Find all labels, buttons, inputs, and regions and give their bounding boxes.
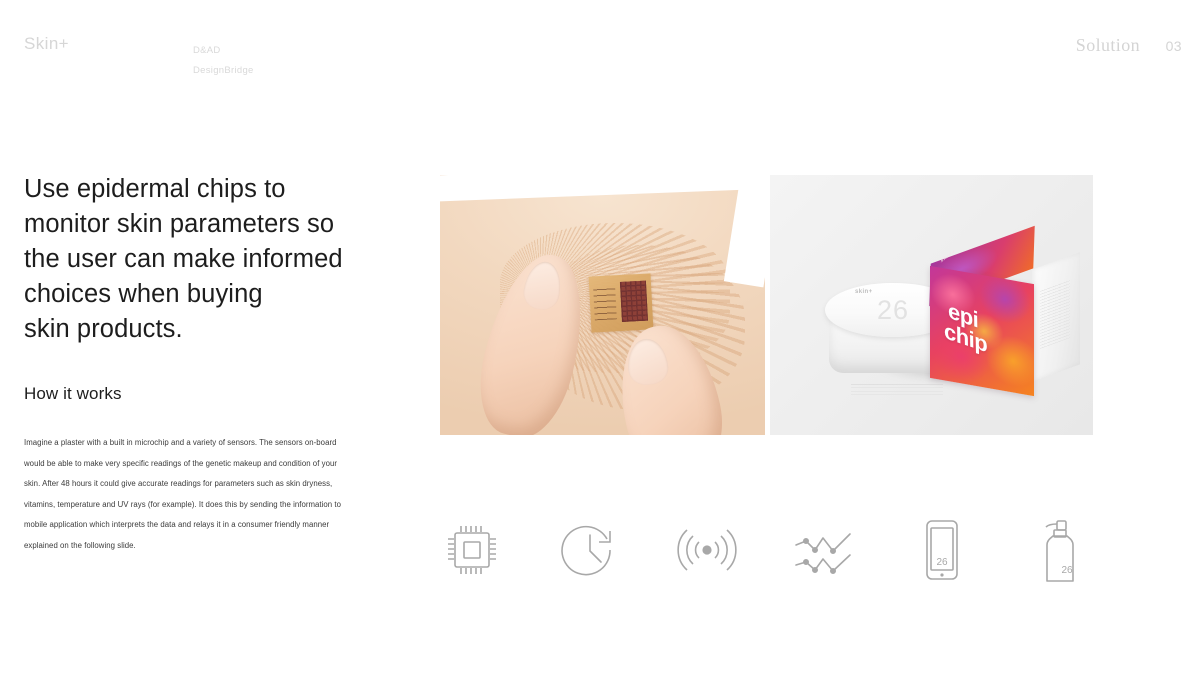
headline-line-1: Use epidermal chips to [24,172,364,207]
epi-chip-box: skin+ epi chip [930,261,1080,391]
headline-line-5: skin products. [24,312,364,347]
slide-header: Skin+ D&AD DesignBridge Solution 03 [0,0,1200,90]
brand-logo: Skin+ [24,34,69,54]
pump-bottle-icon: 26 [1020,512,1100,588]
feature-icon-row: 26 26 [432,512,1100,588]
section-number: 03 [1166,38,1182,54]
clock-history-icon [550,512,630,588]
page-title: Use epidermal chips to monitor skin para… [24,172,364,347]
smartphone-value: 26 [937,557,949,568]
line-chart-icon [785,512,865,588]
headline-line-4: choices when buying [24,277,364,312]
pump-bottle-value: 26 [1061,565,1073,576]
body-paragraph: Imagine a plaster with a built in microc… [24,433,346,557]
box-side-text [1040,280,1070,349]
epidermal-chip-on-skin-photo [440,175,765,435]
fingernail [521,259,565,313]
fingernail [625,337,670,387]
box-side-panel [1032,252,1080,381]
box-word-chip: chip [944,321,988,356]
headline-line-2: monitor skin parameters so [24,207,364,242]
credit-line-1: D&AD [193,41,254,61]
slide: Skin+ D&AD DesignBridge Solution 03 Use … [0,0,1200,675]
wireless-signal-icon [667,512,747,588]
credit-line-2: DesignBridge [193,61,254,81]
epi-chip-packaging-photo: skin+ 26 skin+ epi chip [770,175,1093,435]
microchip-icon [432,512,512,588]
section-subheading: How it works [24,384,364,404]
text-column: Use epidermal chips to monitor skin para… [24,172,364,557]
epidermal-chip-patch [589,273,654,332]
chip-sensor-grid [620,281,648,322]
headline-line-3: the user can make informed [24,242,364,277]
box-front-panel: epi chip [930,266,1034,396]
chip-traces [593,285,617,320]
smartphone-icon: 26 [902,512,982,588]
section-label: Solution [1076,35,1140,56]
credits-block: D&AD DesignBridge [193,41,254,81]
